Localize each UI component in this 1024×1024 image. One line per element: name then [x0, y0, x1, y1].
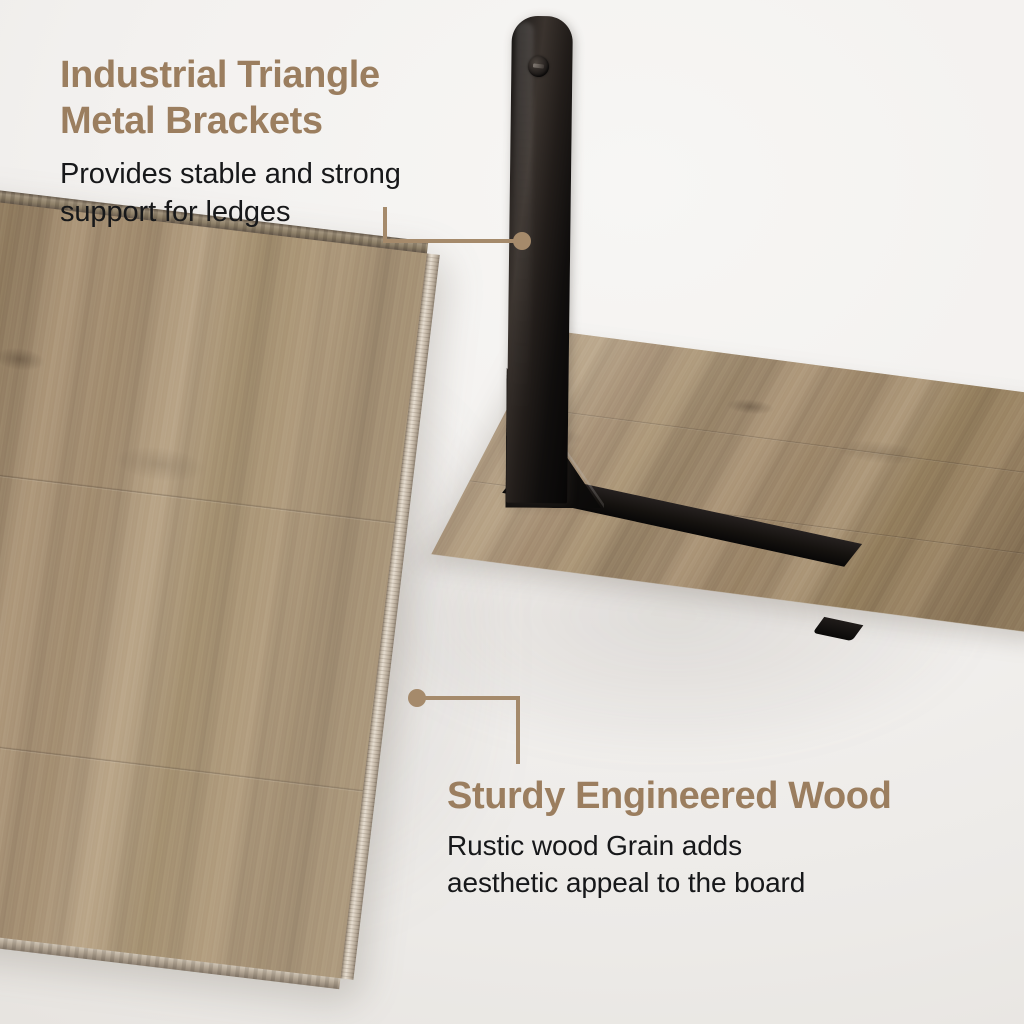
callout-top-body-line2: support for ledges — [60, 196, 290, 228]
callout-bottom-heading: Sturdy Engineered Wood — [447, 773, 1007, 819]
callout-metal-brackets: Industrial TriangleMetal Brackets Provid… — [60, 52, 510, 231]
callout-bottom-body-line1: Rustic wood Grain adds — [447, 830, 742, 861]
callout-top-heading: Industrial TriangleMetal Brackets — [60, 52, 510, 144]
left-wood-board — [0, 179, 427, 979]
callout-top-body-line1: Provides stable and strong — [60, 158, 401, 190]
callout-top-heading-line2: Metal Brackets — [60, 100, 323, 142]
bracket-vertical-strap — [506, 16, 573, 504]
callout-bottom-body-line2: aesthetic appeal to the board — [447, 867, 805, 898]
callout-top-heading-line1: Industrial Triangle — [60, 54, 380, 96]
bracket-sheen — [510, 22, 534, 490]
callout-bottom-body: Rustic wood Grain addsaesthetic appeal t… — [447, 827, 1007, 901]
callout-engineered-wood: Sturdy Engineered Wood Rustic wood Grain… — [447, 773, 1007, 901]
callout-top-body: Provides stable and strongsupport for le… — [60, 155, 510, 231]
product-feature-image: Industrial TriangleMetal Brackets Provid… — [0, 0, 1024, 1024]
screw-slot — [533, 63, 544, 68]
